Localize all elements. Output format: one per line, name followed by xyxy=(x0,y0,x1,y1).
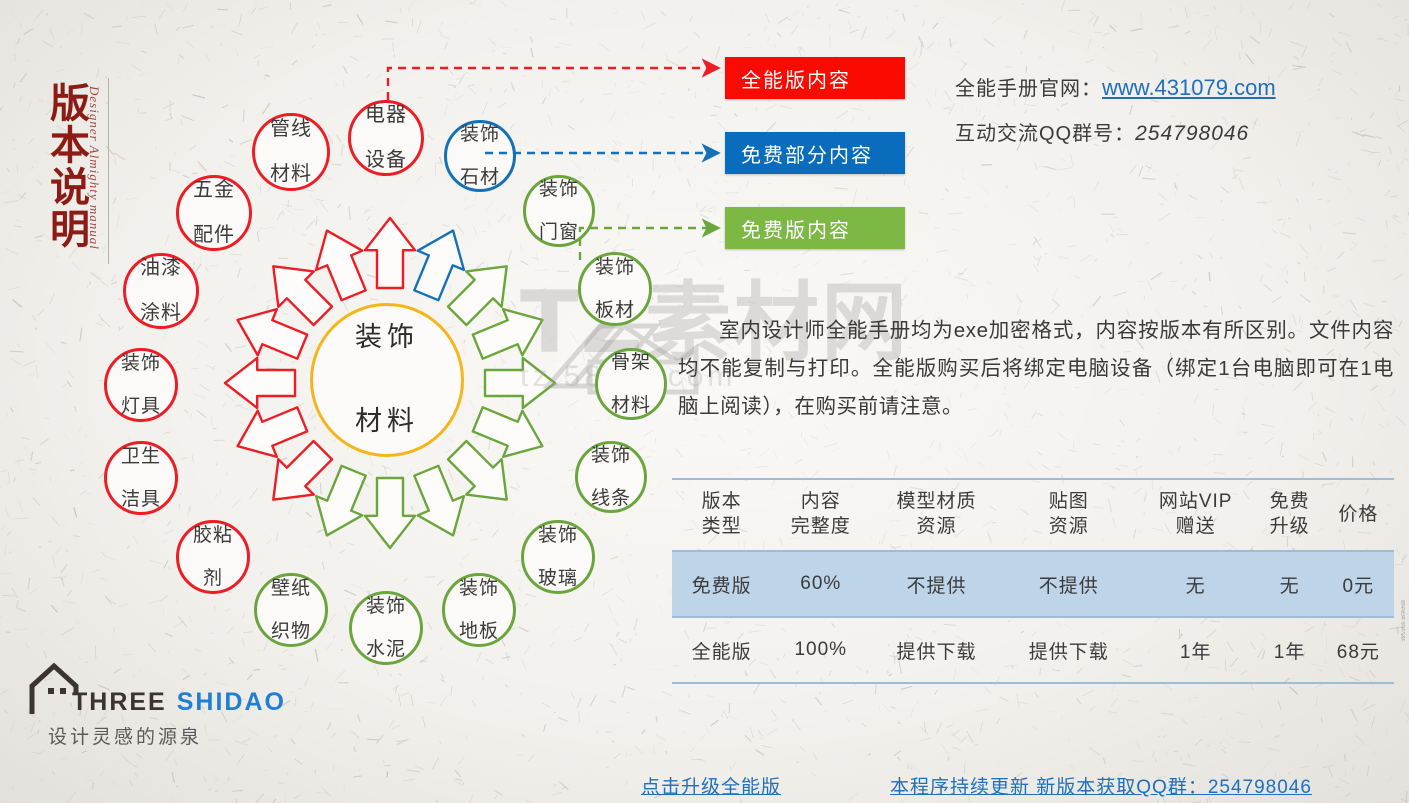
material-node-label-line2: 配件 xyxy=(193,224,235,246)
official-site-line: 全能手册官网：www.431079.com xyxy=(955,72,1395,101)
material-node-n12[interactable]: 胶粘剂 xyxy=(176,520,250,594)
material-node-label-line2: 水泥 xyxy=(366,639,406,660)
material-node-label-line2: 材料 xyxy=(270,163,312,185)
table-header-cell-4: 网站VIP赠送 xyxy=(1135,479,1257,551)
brand-word-shidao: SHIDAO xyxy=(177,688,286,716)
table-header-row: 版本类型内容完整度模型材质资源贴图资源网站VIP赠送免费升级价格 xyxy=(672,479,1394,551)
house-window-left xyxy=(48,688,54,694)
material-node-label-line2: 板材 xyxy=(595,300,635,321)
material-node-label-line2: 材料 xyxy=(611,395,651,416)
brand-word-three: THREE xyxy=(72,688,167,716)
table-header-cell-2: 模型材质资源 xyxy=(870,479,1002,551)
radial-arrow xyxy=(273,441,332,500)
material-node-label-line2: 剂 xyxy=(193,568,233,589)
table-cell: 1年 xyxy=(1257,617,1323,683)
table-row: 免费版60%不提供不提供无无0元 xyxy=(672,551,1394,617)
material-node-label-line2: 织物 xyxy=(271,621,311,642)
material-node-label-line2: 洁具 xyxy=(121,489,161,510)
table-header-line2: 升级 xyxy=(1257,515,1323,540)
qq-group-line: 互动交流QQ群号：254798046 xyxy=(955,117,1395,146)
material-node-label-line1: 管线 xyxy=(270,118,312,140)
table-row: 全能版100%提供下载提供下载1年1年68元 xyxy=(672,617,1394,683)
material-node-label-line2: 线条 xyxy=(591,488,631,509)
edge-micro-text: 版权所有 侵权必究 xyxy=(1391,600,1405,710)
radial-arrow xyxy=(414,466,464,536)
table-header-line2: 资源 xyxy=(1003,515,1135,540)
center-node-line1: 装饰 xyxy=(355,317,419,359)
material-node-label-line2: 地板 xyxy=(459,621,499,642)
radial-arrow xyxy=(473,407,543,457)
table-header-line2: 赠送 xyxy=(1135,515,1257,540)
contact-info-block: 全能手册官网：www.431079.com 互动交流QQ群号：254798046 xyxy=(955,72,1395,162)
material-node-label-line1: 卫生 xyxy=(121,446,161,467)
legend-free-version-label: 免费版内容 xyxy=(741,214,851,243)
table-header-line2: 完整度 xyxy=(771,515,870,540)
legend-free-version[interactable]: 免费版内容 xyxy=(725,207,905,249)
table-header-line1: 内容 xyxy=(771,490,870,515)
material-node-label-line1: 装饰 xyxy=(538,525,578,546)
table-header-line1: 网站VIP xyxy=(1135,490,1257,515)
material-node-label-line1: 装饰 xyxy=(459,578,499,599)
table-cell: 68元 xyxy=(1323,617,1394,683)
material-node-label-line2: 灯具 xyxy=(121,396,161,417)
radial-arrow xyxy=(273,266,332,325)
table-header-line1: 免费 xyxy=(1257,490,1323,515)
table-cell: 提供下载 xyxy=(1003,617,1135,683)
official-site-label: 全能手册官网： xyxy=(955,78,1102,100)
radial-arrow xyxy=(316,466,366,536)
table-cell: 1年 xyxy=(1135,617,1257,683)
radial-arrow xyxy=(316,231,366,301)
page-title: 版本说明 Designer Almighty manual xyxy=(18,82,138,282)
material-node-label-line1: 胶粘 xyxy=(193,525,233,546)
table-cell: 不提供 xyxy=(1003,551,1135,617)
table-cell: 100% xyxy=(771,617,870,683)
slide-canvas: 版本说明 Designer Almighty manual TZ素材网 tz.5… xyxy=(0,0,1409,803)
material-node-label-line1: 骨架 xyxy=(611,352,651,373)
table-cell: 0元 xyxy=(1323,551,1394,617)
table-body: 免费版60%不提供不提供无无0元全能版100%提供下载提供下载1年1年68元 xyxy=(672,551,1394,683)
radial-arrow xyxy=(448,266,507,325)
table-header-cell-0: 版本类型 xyxy=(672,479,771,551)
material-node-label-line1: 五金 xyxy=(193,179,235,201)
footer-bar: 点击升级全能版 本程序持续更新 新版本获取QQ群：254798046 xyxy=(0,770,1409,803)
legend-full-version-label: 全能版内容 xyxy=(741,64,851,93)
title-divider xyxy=(108,78,109,264)
table-header-line1: 价格 xyxy=(1323,503,1394,528)
official-site-link[interactable]: www.431079.com xyxy=(1102,75,1276,100)
radial-arrow xyxy=(365,478,415,548)
table-cell: 60% xyxy=(771,551,870,617)
table-header-cell-1: 内容完整度 xyxy=(771,479,870,551)
material-node-label-line1: 装饰 xyxy=(591,445,631,466)
material-node-n10[interactable]: 装饰水泥 xyxy=(349,591,423,665)
radial-arrow xyxy=(225,358,295,408)
table-cell: 提供下载 xyxy=(870,617,1002,683)
material-node-n01[interactable]: 管线材料 xyxy=(252,113,330,191)
brand-logo: THREESHIDAO 设计灵感的源泉 xyxy=(24,660,284,760)
material-node-n15[interactable]: 油漆涂料 xyxy=(123,253,199,329)
material-node-label-line1: 装饰 xyxy=(121,353,161,374)
material-node-n06[interactable]: 骨架材料 xyxy=(595,348,667,420)
material-node-n07[interactable]: 装饰线条 xyxy=(575,441,647,513)
material-node-label-line1: 装饰 xyxy=(366,596,406,617)
table-header-line1: 模型材质 xyxy=(870,490,1002,515)
radial-arrow xyxy=(238,309,308,359)
table-header-cell-5: 免费升级 xyxy=(1257,479,1323,551)
table-cell: 无 xyxy=(1257,551,1323,617)
material-node-n14[interactable]: 装饰灯具 xyxy=(104,348,178,422)
brand-tagline: 设计灵感的源泉 xyxy=(48,722,202,749)
table-header-cell-3: 贴图资源 xyxy=(1003,479,1135,551)
table-header-cell-6: 价格 xyxy=(1323,479,1394,551)
material-node-n09[interactable]: 装饰地板 xyxy=(442,573,516,647)
legend-partial-free[interactable]: 免费部分内容 xyxy=(725,132,905,174)
qq-group-label: 互动交流QQ群号： xyxy=(955,123,1135,145)
page-title-cn: 版本说明 xyxy=(34,82,88,250)
center-node-line2: 材料 xyxy=(355,401,419,443)
material-node-label-line1: 壁纸 xyxy=(271,578,311,599)
table-cell: 全能版 xyxy=(672,617,771,683)
material-node-label-line2: 玻璃 xyxy=(538,568,578,589)
material-node-label-line2: 涂料 xyxy=(140,302,182,324)
radial-arrow xyxy=(448,441,507,500)
table-header-line1: 贴图 xyxy=(1003,490,1135,515)
table-cell: 不提供 xyxy=(870,551,1002,617)
legend-full-version[interactable]: 全能版内容 xyxy=(725,57,905,99)
table-header-line2: 类型 xyxy=(672,515,771,540)
legend-partial-free-label: 免费部分内容 xyxy=(741,139,873,168)
material-node-n11[interactable]: 壁纸织物 xyxy=(254,573,328,647)
material-node-n16[interactable]: 五金配件 xyxy=(176,175,252,251)
material-node-label-line1: 油漆 xyxy=(140,257,182,279)
upgrade-link[interactable]: 点击升级全能版 xyxy=(641,772,781,799)
legend-connector-lines xyxy=(380,45,740,275)
brand-wordmark: THREESHIDAO xyxy=(72,688,286,717)
table-cell: 免费版 xyxy=(672,551,771,617)
center-node-decoration-material: 装饰 材料 xyxy=(310,303,464,457)
material-node-n08[interactable]: 装饰玻璃 xyxy=(521,520,595,594)
material-node-n13[interactable]: 卫生洁具 xyxy=(104,441,178,515)
qq-group-number: 254798046 xyxy=(1135,122,1249,145)
update-notice-link[interactable]: 本程序持续更新 新版本获取QQ群：254798046 xyxy=(890,772,1312,799)
house-window-right xyxy=(60,688,66,694)
radial-arrow xyxy=(238,407,308,457)
table-cell: 无 xyxy=(1135,551,1257,617)
table-header-line2: 资源 xyxy=(870,515,1002,540)
description-paragraph: 室内设计师全能手册均为exe加密格式，内容按版本有所区别。文件内容均不能复制与打… xyxy=(678,312,1394,426)
page-title-en: Designer Almighty manual xyxy=(86,86,102,250)
version-comparison-table: 版本类型内容完整度模型材质资源贴图资源网站VIP赠送免费升级价格 免费版60%不… xyxy=(672,478,1394,684)
table-header-line1: 版本 xyxy=(672,490,771,515)
